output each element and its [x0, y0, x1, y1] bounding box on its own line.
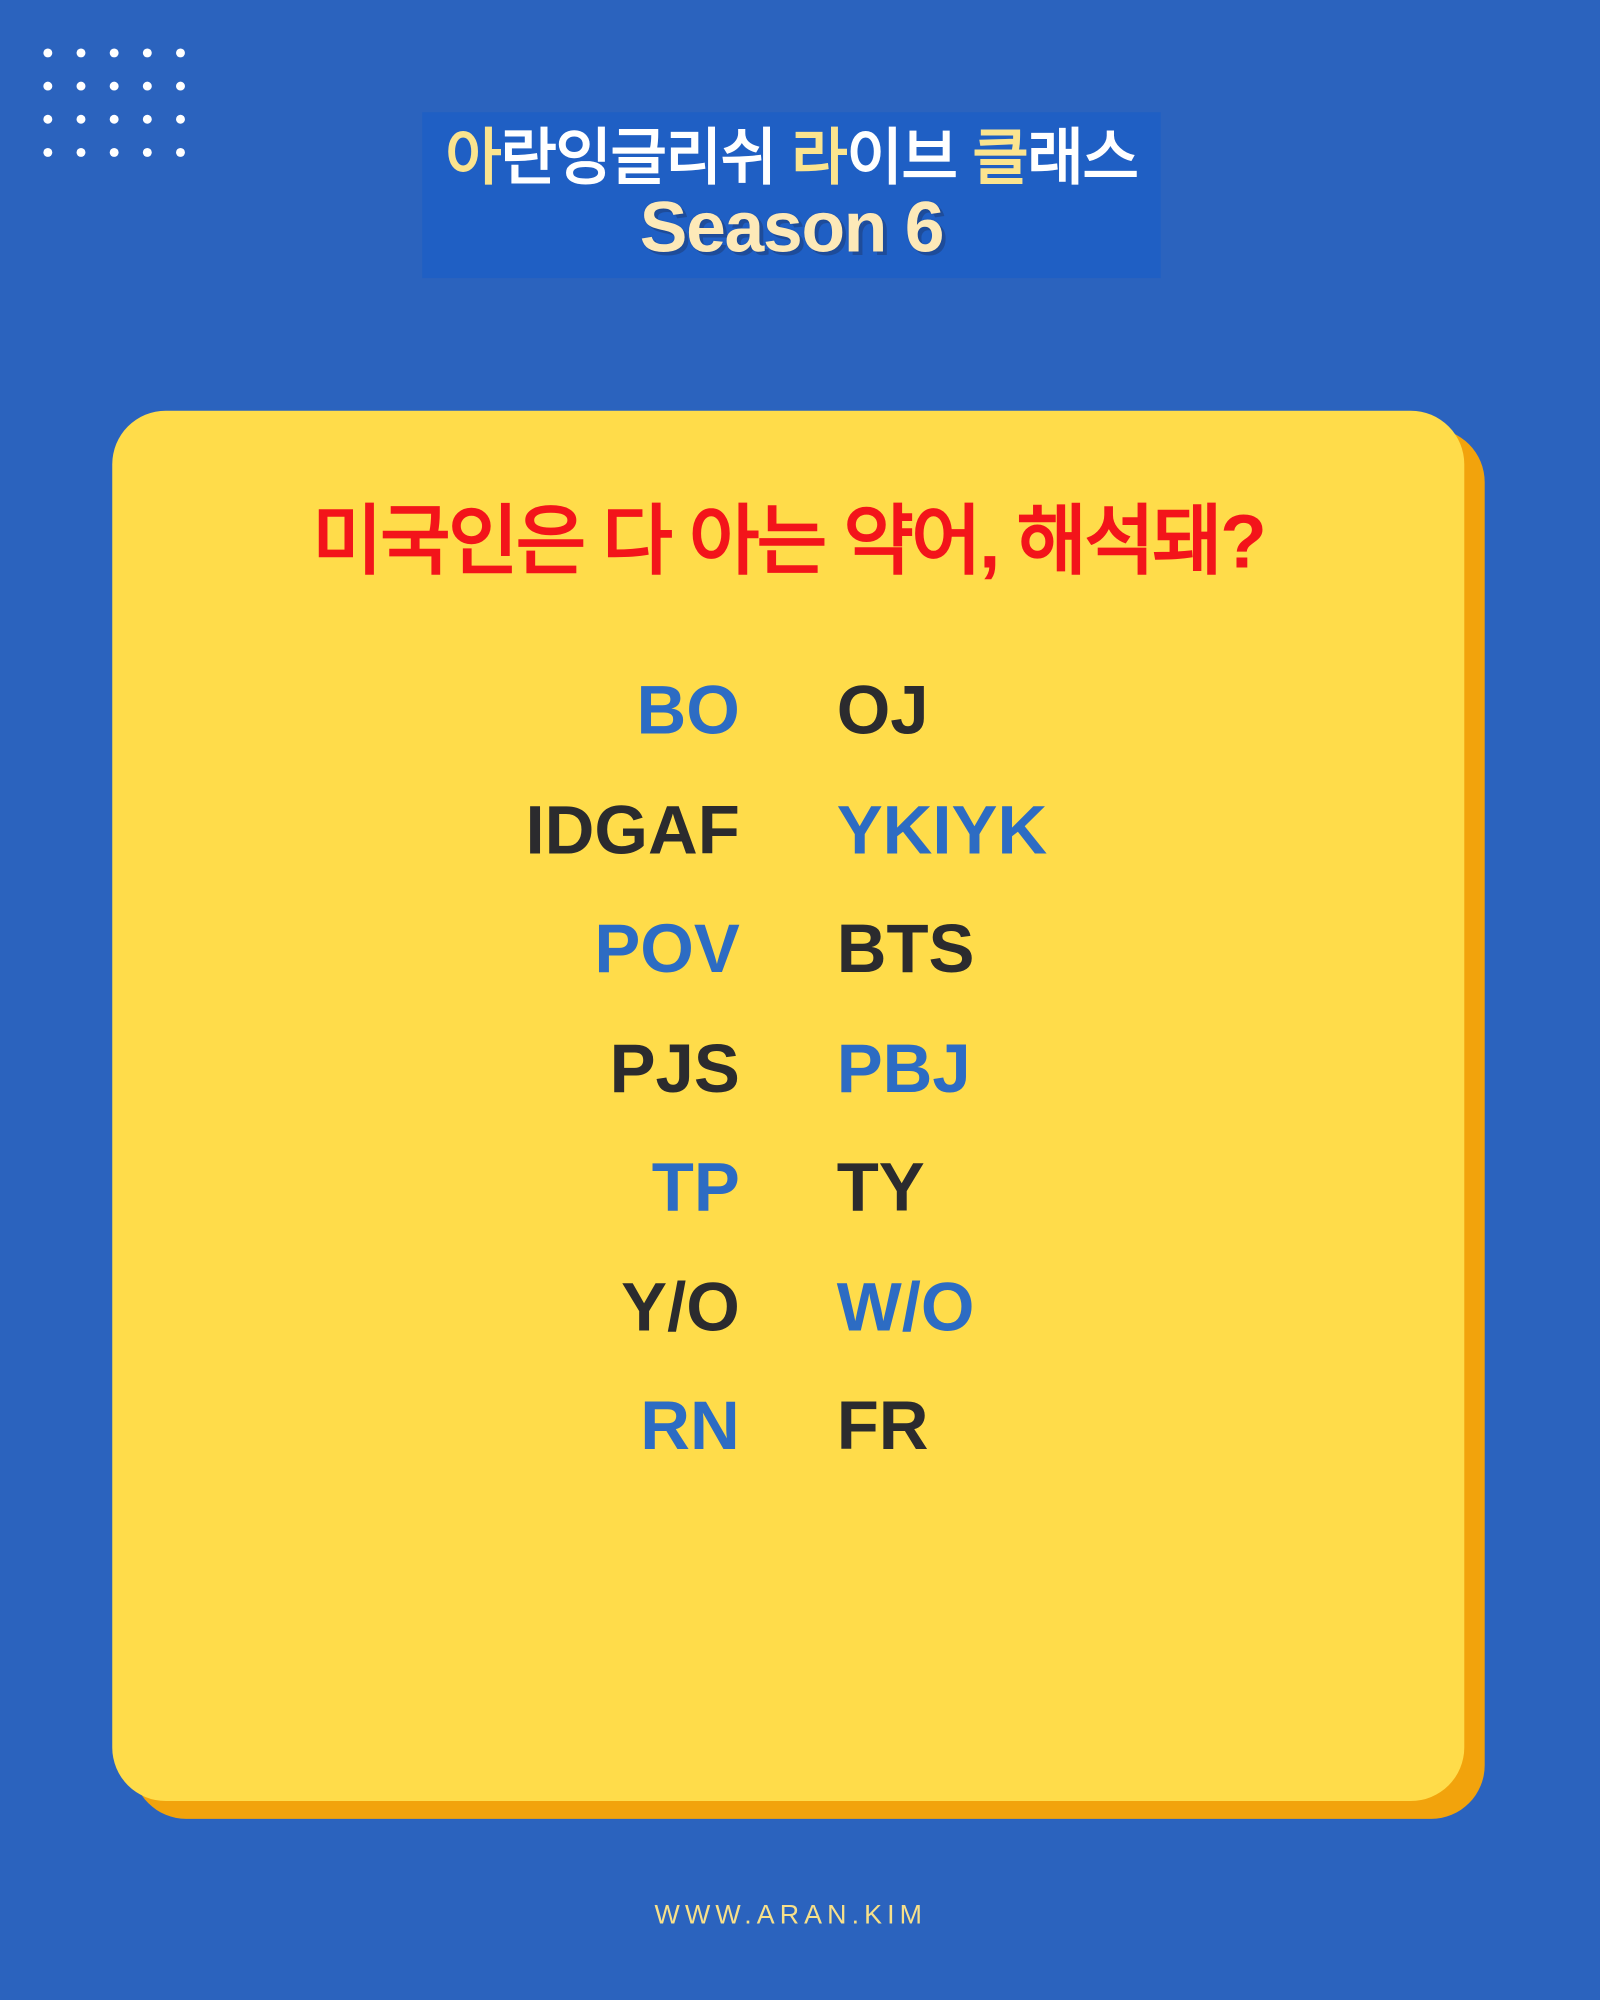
grid-dot	[175, 147, 184, 156]
acronym-item: TY	[788, 1145, 1145, 1231]
banner-title-segment: 라	[791, 125, 846, 193]
grid-dot	[43, 114, 52, 123]
grid-dot	[175, 48, 184, 57]
title-banner: 아란잉글리쉬 라이브 클래스 Season 6	[422, 112, 1161, 278]
grid-dot	[109, 48, 118, 57]
acronym-item: PJS	[431, 1026, 788, 1112]
content-card: 미국인은 다 아는 약어, 해석돼? BOOJIDGAFYKIYKPOVBTSP…	[112, 411, 1464, 1801]
grid-dot	[142, 114, 151, 123]
acronym-item: YKIYK	[788, 788, 1145, 874]
grid-dot	[76, 81, 85, 90]
acronym-item: OJ	[788, 668, 1145, 754]
grid-dot	[109, 81, 118, 90]
card-headline: 미국인은 다 아는 약어, 해석돼?	[163, 500, 1413, 584]
grid-dot	[76, 48, 85, 57]
dot-grid-decoration	[31, 36, 197, 169]
banner-korean-title: 아란잉글리쉬 라이브 클래스	[445, 127, 1137, 191]
grid-dot	[175, 114, 184, 123]
footer-website: WWW.ARAN.KIM	[0, 1901, 1582, 1932]
banner-title-segment: 아	[445, 125, 500, 193]
acronym-item: FR	[788, 1384, 1145, 1470]
poster-canvas: 아란잉글리쉬 라이브 클래스 Season 6 미국인은 다 아는 약어, 해석…	[0, 0, 1582, 2000]
acronym-item: Y/O	[431, 1265, 788, 1351]
grid-dot	[109, 114, 118, 123]
grid-dot	[43, 81, 52, 90]
grid-dot	[43, 147, 52, 156]
grid-dot	[109, 147, 118, 156]
acronym-item: RN	[431, 1384, 788, 1470]
banner-title-segment: 란잉글리쉬	[500, 125, 791, 193]
banner-title-segment: 래스	[1027, 125, 1137, 193]
grid-dot	[76, 114, 85, 123]
acronym-grid: BOOJIDGAFYKIYKPOVBTSPJSPBJTPTYY/OW/ORNFR	[431, 668, 1145, 1470]
grid-dot	[142, 48, 151, 57]
grid-dot	[43, 48, 52, 57]
acronym-item: BO	[431, 668, 788, 754]
grid-dot	[175, 81, 184, 90]
grid-dot	[142, 81, 151, 90]
banner-title-segment: 이브	[847, 125, 973, 193]
acronym-item: POV	[431, 907, 788, 993]
grid-dot	[142, 147, 151, 156]
acronym-item: W/O	[788, 1265, 1145, 1351]
acronym-item: PBJ	[788, 1026, 1145, 1112]
banner-title-segment: 클	[972, 125, 1027, 193]
acronym-item: BTS	[788, 907, 1145, 993]
acronym-item: TP	[431, 1145, 788, 1231]
banner-season-label: Season 6	[640, 192, 943, 263]
grid-dot	[76, 147, 85, 156]
acronym-item: IDGAF	[431, 788, 788, 874]
